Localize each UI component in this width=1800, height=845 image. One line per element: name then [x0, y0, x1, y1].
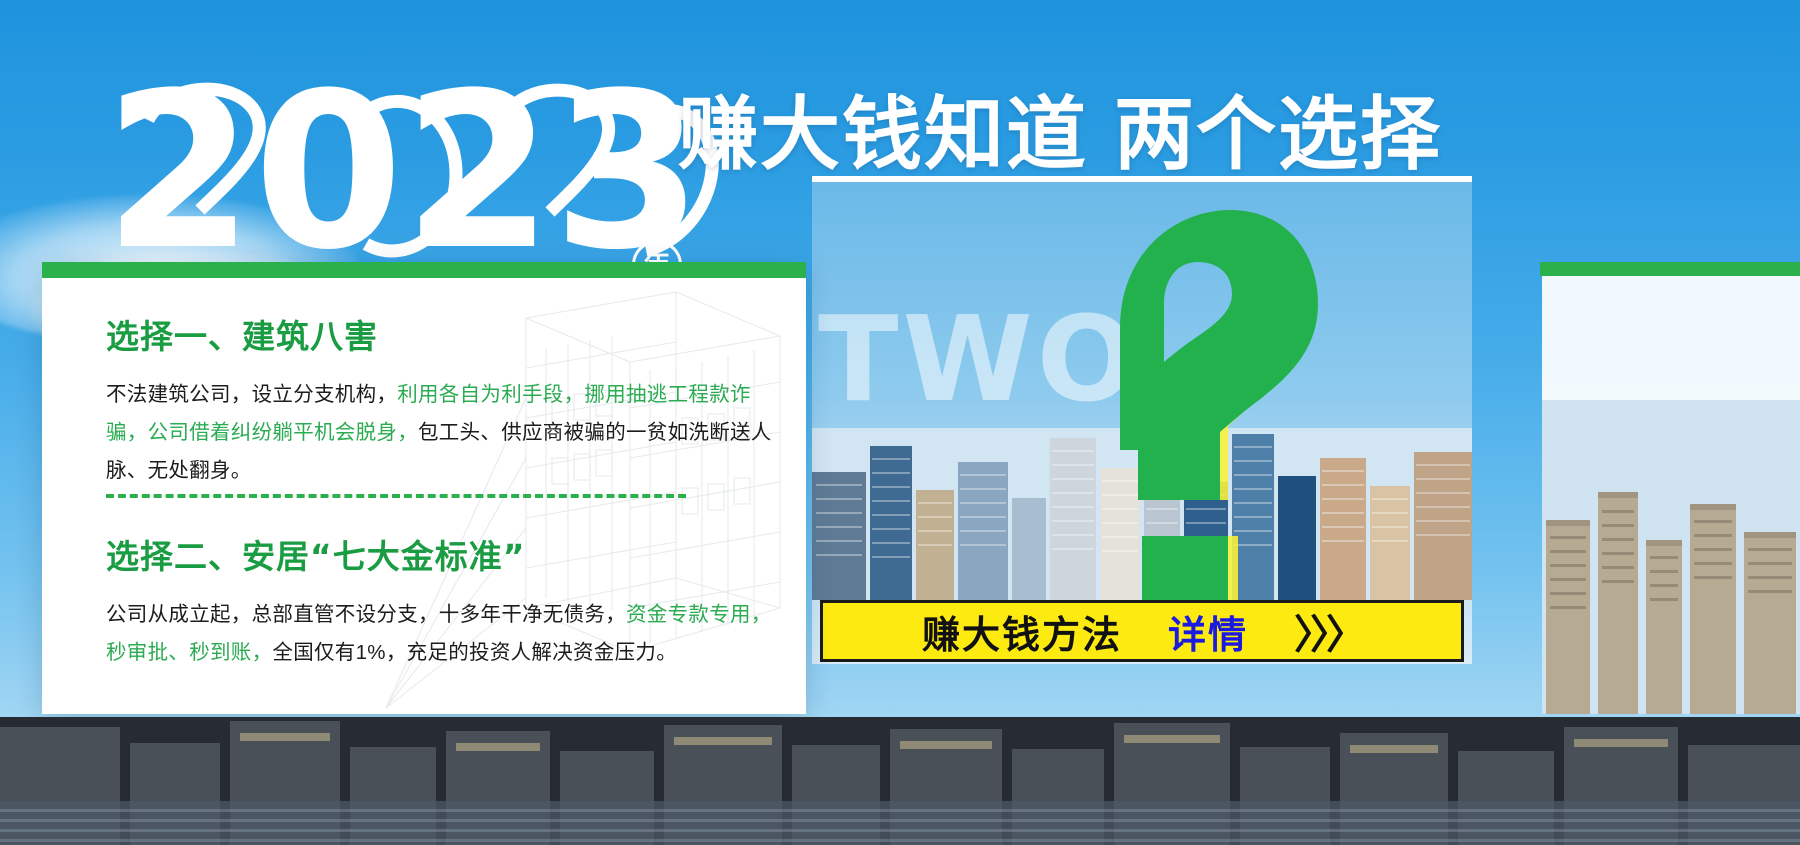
- s2-text-black-b: 全国仅有1%，充足的投资人解决资金压力。: [272, 641, 677, 664]
- right-cityscape: [1542, 400, 1800, 714]
- page-title: 赚大钱知道两个选择: [678, 70, 1442, 186]
- card-section-1: 选择一、建筑八害 不法建筑公司，设立分支机构，利用各自为利手段，挪用抽逃工程款诈…: [106, 310, 776, 490]
- card-section-2: 选择二、安居“七大金标准” 公司从成立起，总部直管不设分支，十多年干净无债务，资…: [106, 530, 776, 672]
- cityscape-icon: [812, 428, 1472, 600]
- section-2-title: 选择二、安居“七大金标准”: [106, 530, 776, 578]
- chevron-right-icon: 〉〉〉: [1294, 602, 1362, 660]
- right-panel: TWO CHOICES: [812, 182, 1472, 664]
- card-top-accent-bar: [42, 262, 806, 278]
- section-1-title: 选择一、建筑八害: [106, 310, 776, 358]
- headline-part-1: 赚大钱知道: [678, 88, 1088, 181]
- cta-detail-link[interactable]: 详情: [1168, 604, 1248, 659]
- section-divider: [106, 494, 686, 498]
- bottom-strip: [0, 717, 1800, 845]
- bottom-cityscape-icon: [0, 717, 1800, 845]
- headline-part-2: 两个选择: [1114, 88, 1442, 181]
- s1-text-black-a: 不法建筑公司，设立分支机构，: [106, 383, 397, 406]
- section-2-paragraph: 公司从成立起，总部直管不设分支，十多年干净无债务，资金专款专用，秒审批、秒到账，…: [106, 596, 782, 672]
- section-1-paragraph: 不法建筑公司，设立分支机构，利用各自为利手段，挪用抽逃工程款诈骗，公司借着纠纷躺…: [106, 376, 782, 490]
- year-graphic: .yl { fill:none; stroke:#ffffff; stroke-…: [104, 58, 724, 268]
- cta-button[interactable]: 赚大钱方法 详情 〉〉〉: [820, 600, 1464, 662]
- cityscape-band: [812, 428, 1472, 600]
- year-outline-icon: .yl { fill:none; stroke:#ffffff; stroke-…: [104, 58, 724, 288]
- cta-main-label: 赚大钱方法: [922, 604, 1122, 659]
- s2-text-black-a: 公司从成立起，总部直管不设分支，十多年干净无债务，: [106, 603, 626, 626]
- promo-banner: .yl { fill:none; stroke:#ffffff; stroke-…: [0, 0, 1800, 845]
- content-card: 选择一、建筑八害 不法建筑公司，设立分支机构，利用各自为利手段，挪用抽逃工程款诈…: [42, 262, 806, 714]
- cityscape-right-icon: [1542, 400, 1800, 714]
- right-green-accent: [1540, 262, 1800, 276]
